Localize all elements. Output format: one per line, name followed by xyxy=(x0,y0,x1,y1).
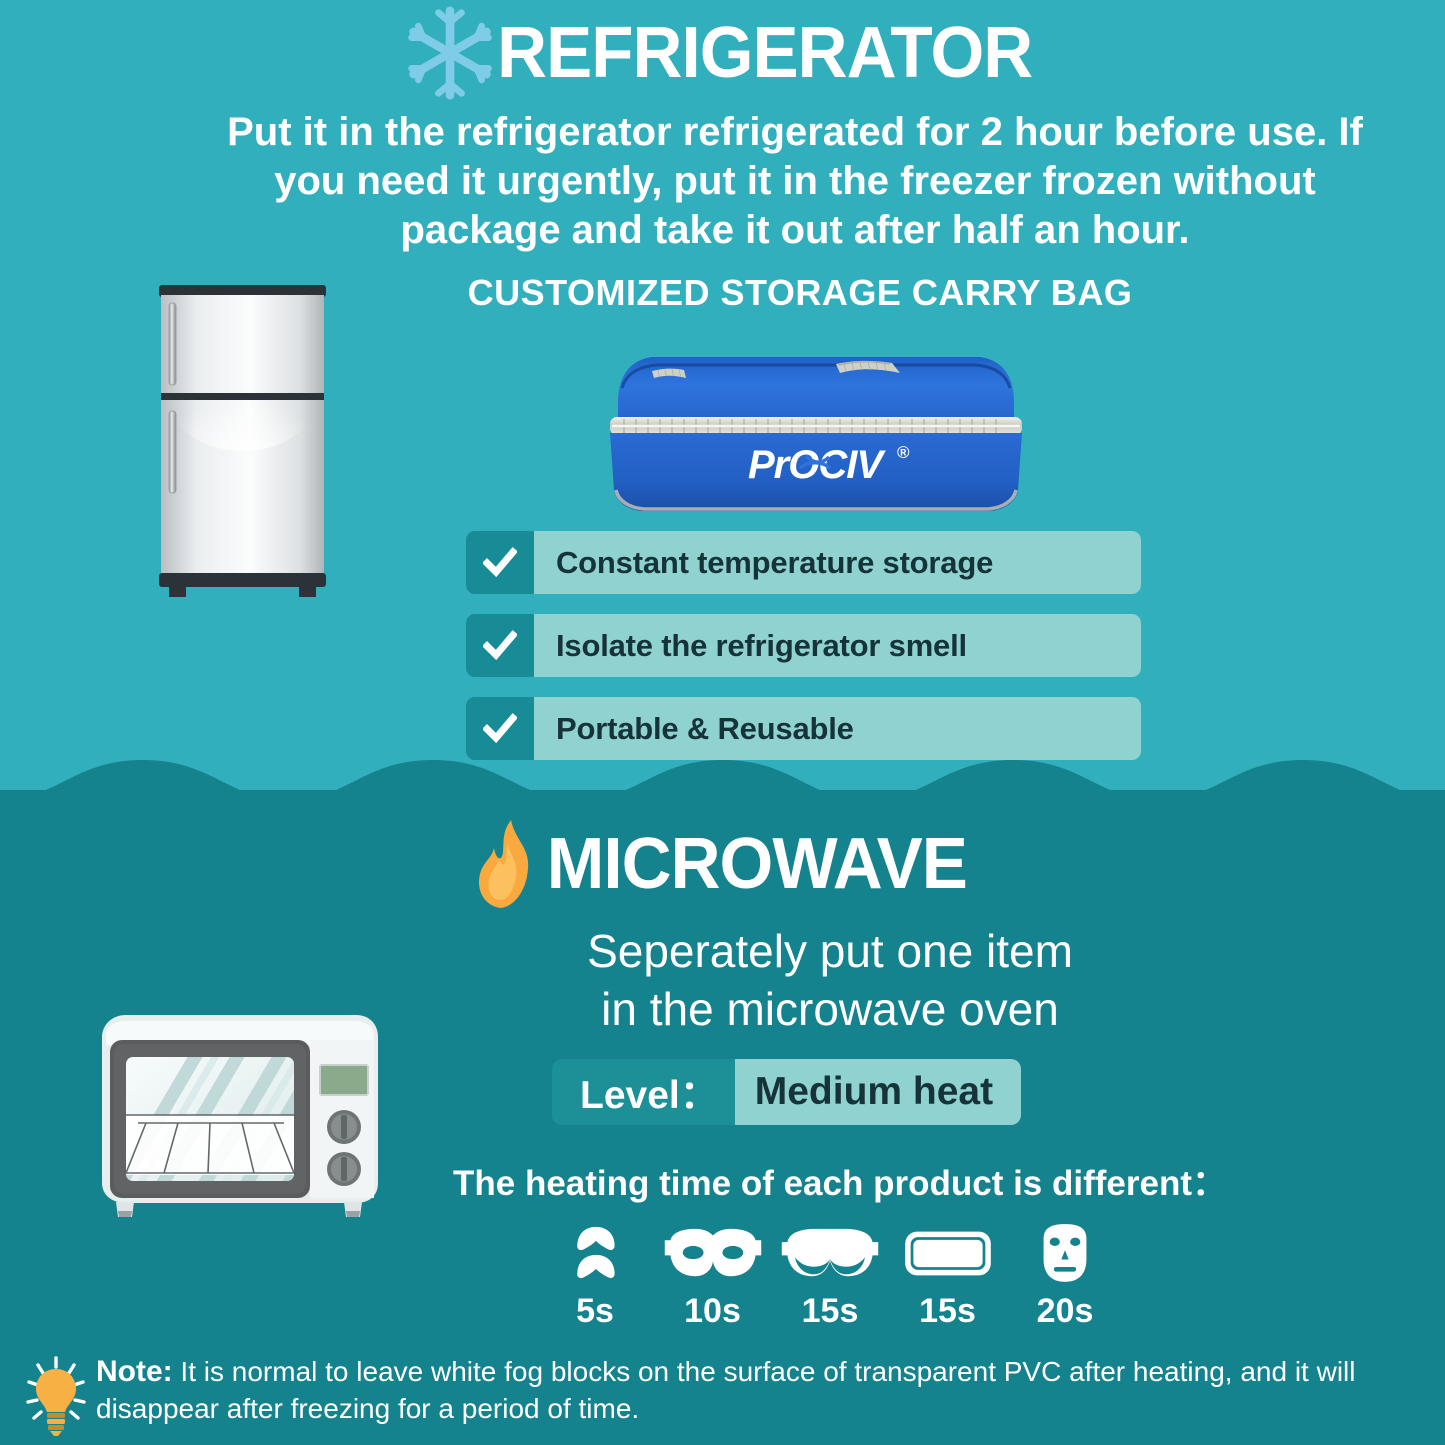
product-time: 10s xyxy=(684,1292,741,1331)
list-item: 15s xyxy=(780,1222,880,1331)
blue-carry-bag-photo: PrOCIV ® xyxy=(600,340,1030,520)
bottom-note: Note: It is normal to leave white fog bl… xyxy=(22,1352,1422,1440)
heating-time-note: The heating time of each product is diff… xyxy=(340,1155,1340,1206)
list-item: Constant temperature storage xyxy=(466,531,1141,594)
check-icon xyxy=(466,697,534,760)
heat-level-value: Medium heat xyxy=(735,1059,1021,1125)
product-time: 15s xyxy=(802,1292,859,1331)
product-heating-times: 5s 10s 15s xyxy=(545,1222,1115,1331)
check-icon xyxy=(466,531,534,594)
refrigerator-header: REFRIGERATOR xyxy=(0,8,1445,98)
carry-bag-feature-list: Constant temperature storage Isolate the… xyxy=(466,531,1141,780)
feature-label: Isolate the refrigerator smell xyxy=(534,614,1141,677)
face-mask-icon xyxy=(1038,1222,1092,1284)
list-item: 20s xyxy=(1015,1222,1115,1331)
list-item: 10s xyxy=(663,1222,763,1331)
refrigerator-instructions: Put it in the refrigerator refrigerated … xyxy=(215,108,1375,256)
carry-bag-heading: CUSTOMIZED STORAGE CARRY BAG xyxy=(380,272,1220,314)
page-title-microwave: MICROWAVE xyxy=(546,828,966,900)
snowflake-icon xyxy=(402,5,498,101)
product-time: 5s xyxy=(576,1292,614,1331)
feature-label: Constant temperature storage xyxy=(534,531,1141,594)
page-title-refrigerator: REFRIGERATOR xyxy=(497,17,1032,89)
note-text: Note: It is normal to leave white fog bl… xyxy=(90,1352,1422,1427)
note-body: It is normal to leave white fog blocks o… xyxy=(96,1356,1356,1424)
check-icon xyxy=(466,614,534,677)
gel-pad-icon xyxy=(902,1222,994,1284)
infographic-page: REFRIGERATOR Put it in the refrigerator … xyxy=(0,0,1445,1445)
microwave-subtitle-line1: Seperately put one item xyxy=(430,922,1230,980)
flame-icon xyxy=(470,818,544,910)
refrigerator-illustration xyxy=(155,281,330,606)
heat-level-bar: Level： Medium heat xyxy=(552,1059,1021,1125)
bag-brand-text: PrOCIV xyxy=(748,443,886,487)
microwave-oven-illustration xyxy=(88,1005,388,1255)
list-item: Portable & Reusable xyxy=(466,697,1141,760)
microwave-subtitle: Seperately put one item in the microwave… xyxy=(430,922,1230,1039)
product-time: 15s xyxy=(919,1292,976,1331)
lightbulb-icon xyxy=(22,1354,90,1440)
svg-text:®: ® xyxy=(897,443,910,462)
eye-pads-icon xyxy=(567,1222,623,1284)
heat-level-key: Level： xyxy=(552,1059,735,1125)
microwave-header: MICROWAVE xyxy=(0,818,1445,910)
sleep-goggles-icon xyxy=(778,1222,882,1284)
list-item: 5s xyxy=(545,1222,645,1331)
feature-label: Portable & Reusable xyxy=(534,697,1141,760)
list-item: Isolate the refrigerator smell xyxy=(466,614,1141,677)
microwave-subtitle-line2: in the microwave oven xyxy=(430,980,1230,1038)
eye-mask-icon xyxy=(661,1222,765,1284)
list-item: 15s xyxy=(898,1222,998,1331)
product-time: 20s xyxy=(1037,1292,1094,1331)
note-label: Note: xyxy=(96,1355,173,1388)
